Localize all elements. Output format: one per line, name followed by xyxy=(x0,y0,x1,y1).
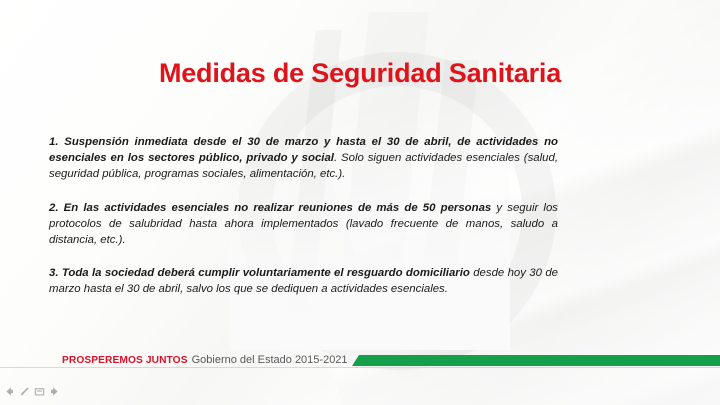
presentation-toolbar[interactable] xyxy=(4,386,60,397)
measure-paragraph: 3. Toda la sociedad deberá cumplir volun… xyxy=(49,265,558,297)
pen-icon[interactable] xyxy=(19,386,30,397)
next-arrow-icon[interactable] xyxy=(49,386,60,397)
measure-paragraph: 1. Suspensión inmediata desde el 30 de m… xyxy=(49,134,558,183)
slide-icon[interactable] xyxy=(34,386,45,397)
measure-paragraph: 2. En las actividades esenciales no real… xyxy=(49,200,558,249)
footer-branding: PROSPEREMOS JUNTOSGobierno del Estado 20… xyxy=(62,354,348,366)
previous-arrow-icon[interactable] xyxy=(4,386,15,397)
footer-accent-bar xyxy=(352,355,720,366)
slide-title: Medidas de Seguridad Sanitaria xyxy=(0,58,720,89)
footer-government-label: Gobierno del Estado 2015-2021 xyxy=(192,354,348,366)
presentation-slide: Medidas de Seguridad Sanitaria 1. Suspen… xyxy=(0,0,720,405)
footer-divider xyxy=(0,367,720,368)
footer-slogan: PROSPEREMOS JUNTOS xyxy=(62,355,188,366)
slide-body: 1. Suspensión inmediata desde el 30 de m… xyxy=(49,134,558,298)
measure-paragraph-lead: 3. Toda la sociedad deberá cumplir volun… xyxy=(49,267,470,279)
measure-paragraph-lead: 2. En las actividades esenciales no real… xyxy=(49,202,491,214)
